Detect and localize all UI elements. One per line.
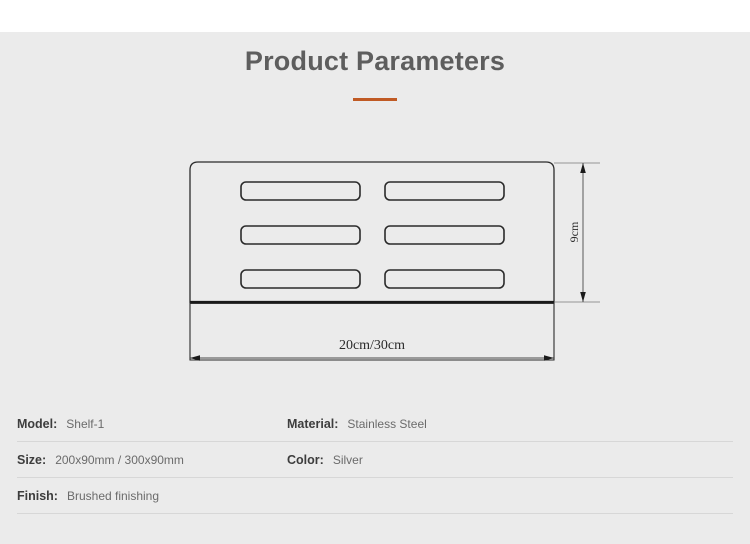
top-white-band bbox=[0, 0, 750, 32]
slot-left-1 bbox=[241, 182, 360, 200]
spec-cell-material: Material: Stainless Steel bbox=[287, 417, 427, 431]
spec-value-finish: Brushed finishing bbox=[67, 489, 159, 503]
spec-cell-finish: Finish: Brushed finishing bbox=[17, 489, 287, 503]
spec-label-finish: Finish: bbox=[17, 489, 58, 503]
page-title: Product Parameters bbox=[0, 44, 750, 78]
spec-label-material: Material: bbox=[287, 417, 338, 431]
spec-value-model: Shelf-1 bbox=[66, 417, 104, 431]
slot-right-1 bbox=[385, 182, 504, 200]
table-row: Model: Shelf-1 Material: Stainless Steel bbox=[17, 406, 733, 442]
spec-label-color: Color: bbox=[287, 453, 324, 467]
spec-cell-color: Color: Silver bbox=[287, 453, 363, 467]
table-row: Finish: Brushed finishing bbox=[17, 478, 733, 514]
width-dimension-label: 20cm/30cm bbox=[339, 338, 405, 353]
slot-right-2 bbox=[385, 226, 504, 244]
spec-label-model: Model: bbox=[17, 417, 57, 431]
spec-label-size: Size: bbox=[17, 453, 46, 467]
title-accent-underline bbox=[353, 98, 397, 101]
slot-left-3 bbox=[241, 270, 360, 288]
height-dimension-label: 9cm bbox=[567, 221, 581, 242]
spec-value-material: Stainless Steel bbox=[347, 417, 426, 431]
spec-value-size: 200x90mm / 300x90mm bbox=[55, 453, 184, 467]
table-row: Size: 200x90mm / 300x90mm Color: Silver bbox=[17, 442, 733, 478]
spec-cell-size: Size: 200x90mm / 300x90mm bbox=[17, 453, 287, 467]
shelf-diagram: 9cm 20cm/30cm bbox=[160, 150, 610, 380]
slot-left-2 bbox=[241, 226, 360, 244]
title-block: Product Parameters bbox=[0, 44, 750, 101]
slot-right-3 bbox=[385, 270, 504, 288]
spec-cell-model: Model: Shelf-1 bbox=[17, 417, 287, 431]
arrow-down bbox=[580, 292, 586, 302]
spec-value-color: Silver bbox=[333, 453, 363, 467]
specifications-table: Model: Shelf-1 Material: Stainless Steel… bbox=[17, 406, 733, 514]
arrow-up bbox=[580, 163, 586, 173]
product-parameters-page: Product Parameters bbox=[0, 0, 750, 544]
